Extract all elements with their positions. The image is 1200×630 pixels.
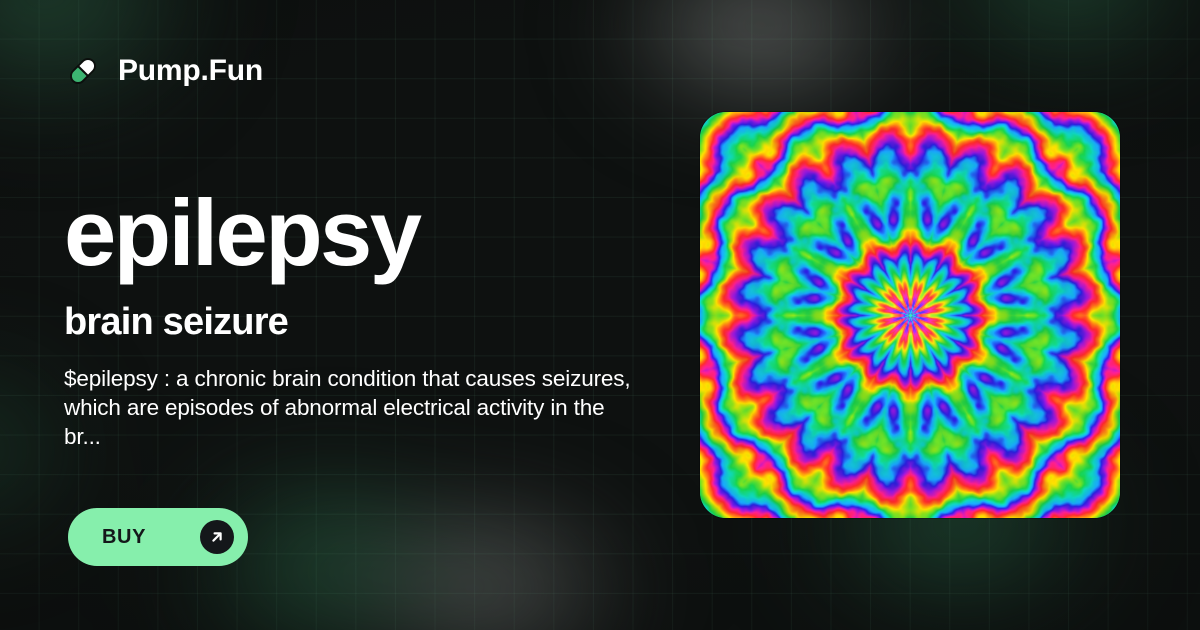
brand-name: Pump.Fun	[118, 54, 263, 88]
kaleidoscope-canvas	[700, 112, 1120, 518]
page-subtitle: brain seizure	[64, 303, 288, 343]
token-artwork	[700, 112, 1120, 518]
pill-capsule-icon	[64, 52, 102, 90]
share-card: Pump.Fun epilepsy brain seizure $epileps…	[0, 0, 1200, 630]
page-title: epilepsy	[64, 186, 419, 280]
buy-button[interactable]: BUY	[68, 508, 248, 566]
arrow-up-right-icon	[200, 520, 234, 554]
card-content: Pump.Fun epilepsy brain seizure $epileps…	[0, 0, 1200, 630]
buy-button-label: BUY	[102, 526, 200, 549]
brand-logo-lockup[interactable]: Pump.Fun	[64, 52, 263, 90]
token-description: $epilepsy : a chronic brain condition th…	[64, 364, 644, 451]
